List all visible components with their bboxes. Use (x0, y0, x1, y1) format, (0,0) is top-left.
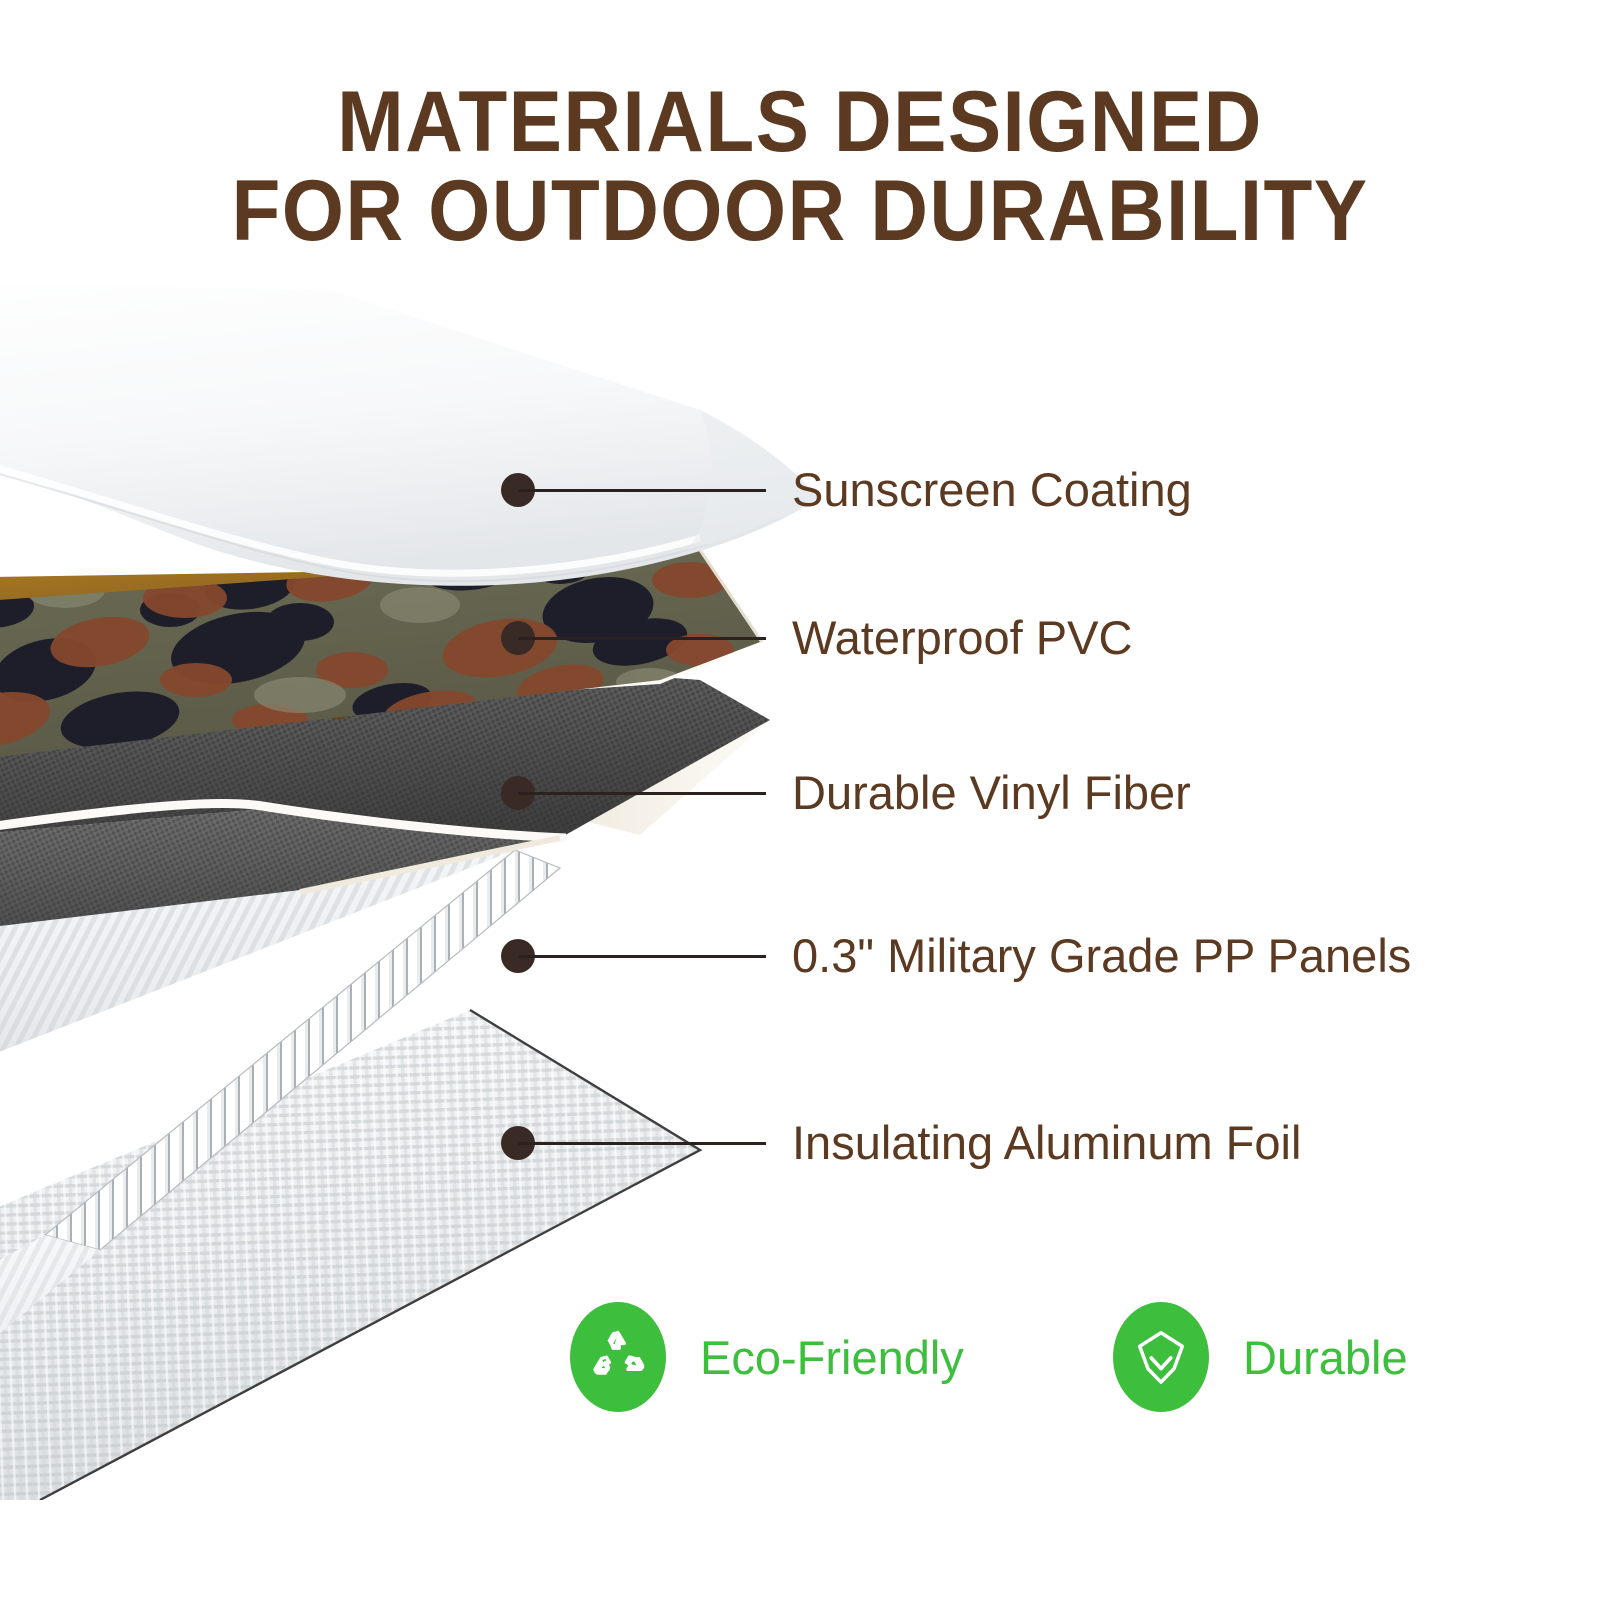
page-title: MATERIALS DESIGNED FOR OUTDOOR DURABILIT… (56, 78, 1544, 255)
badge-circle-durable (1113, 1302, 1209, 1412)
label-sunscreen-coating: Sunscreen Coating (792, 466, 1192, 513)
badge-durable: Durable (1113, 1302, 1408, 1412)
label-durable-vinyl-fiber: Durable Vinyl Fiber (792, 769, 1191, 816)
callout-line-sunscreen-coating (518, 489, 766, 492)
shield-check-icon (1130, 1326, 1192, 1388)
badge-circle-eco-friendly (570, 1302, 666, 1412)
title-line-2: FOR OUTDOOR DURABILITY (56, 167, 1544, 256)
recycle-icon (587, 1326, 649, 1388)
label-waterproof-pvc: Waterproof PVC (792, 614, 1132, 661)
badge-label-durable: Durable (1243, 1334, 1408, 1381)
label-aluminum-foil: Insulating Aluminum Foil (792, 1119, 1301, 1166)
layer-sunscreen-coating (0, 280, 818, 586)
badge-eco-friendly: Eco-Friendly (570, 1302, 964, 1412)
callout-line-waterproof-pvc (518, 637, 766, 640)
callout-line-aluminum-foil (518, 1142, 766, 1145)
callout-line-pp-panels (518, 955, 766, 958)
label-pp-panels: 0.3" Military Grade PP Panels (792, 932, 1411, 979)
badge-label-eco-friendly: Eco-Friendly (700, 1334, 964, 1381)
infographic-canvas: MATERIALS DESIGNED FOR OUTDOOR DURABILIT… (0, 0, 1600, 1600)
feature-badges: Eco-Friendly Durable (0, 1280, 1600, 1460)
callout-line-durable-vinyl-fiber (518, 792, 766, 795)
title-line-1: MATERIALS DESIGNED (56, 78, 1544, 167)
